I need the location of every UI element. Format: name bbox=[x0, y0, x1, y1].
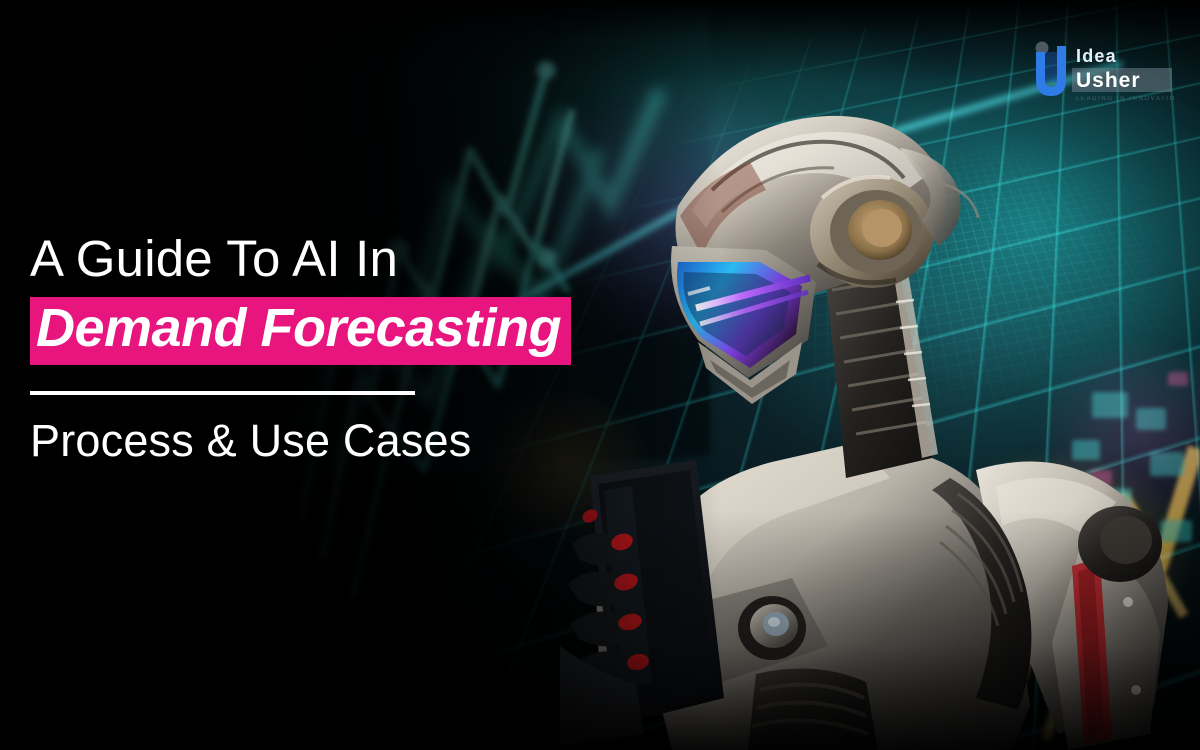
hero-banner: A Guide To AI In Demand Forecasting Proc… bbox=[0, 0, 1200, 750]
subheadline-text: Process & Use Cases bbox=[30, 417, 670, 464]
headline-line-1: A Guide To AI In bbox=[30, 232, 670, 285]
idea-usher-logo[interactable]: Idea Usher LEADING IN INNOVATION bbox=[1024, 36, 1174, 112]
logo-brand-line-1: Idea bbox=[1076, 46, 1117, 66]
highlight-band: Demand Forecasting bbox=[30, 297, 571, 365]
headline-divider-rule bbox=[30, 391, 415, 395]
logo-tagline: LEADING IN INNOVATION bbox=[1076, 96, 1174, 102]
headline-block: A Guide To AI In Demand Forecasting Proc… bbox=[30, 232, 670, 464]
logo-u-mark-icon bbox=[1036, 46, 1066, 96]
logo-brand-line-2: Usher bbox=[1076, 69, 1141, 92]
headline-highlight-text: Demand Forecasting bbox=[36, 301, 561, 356]
